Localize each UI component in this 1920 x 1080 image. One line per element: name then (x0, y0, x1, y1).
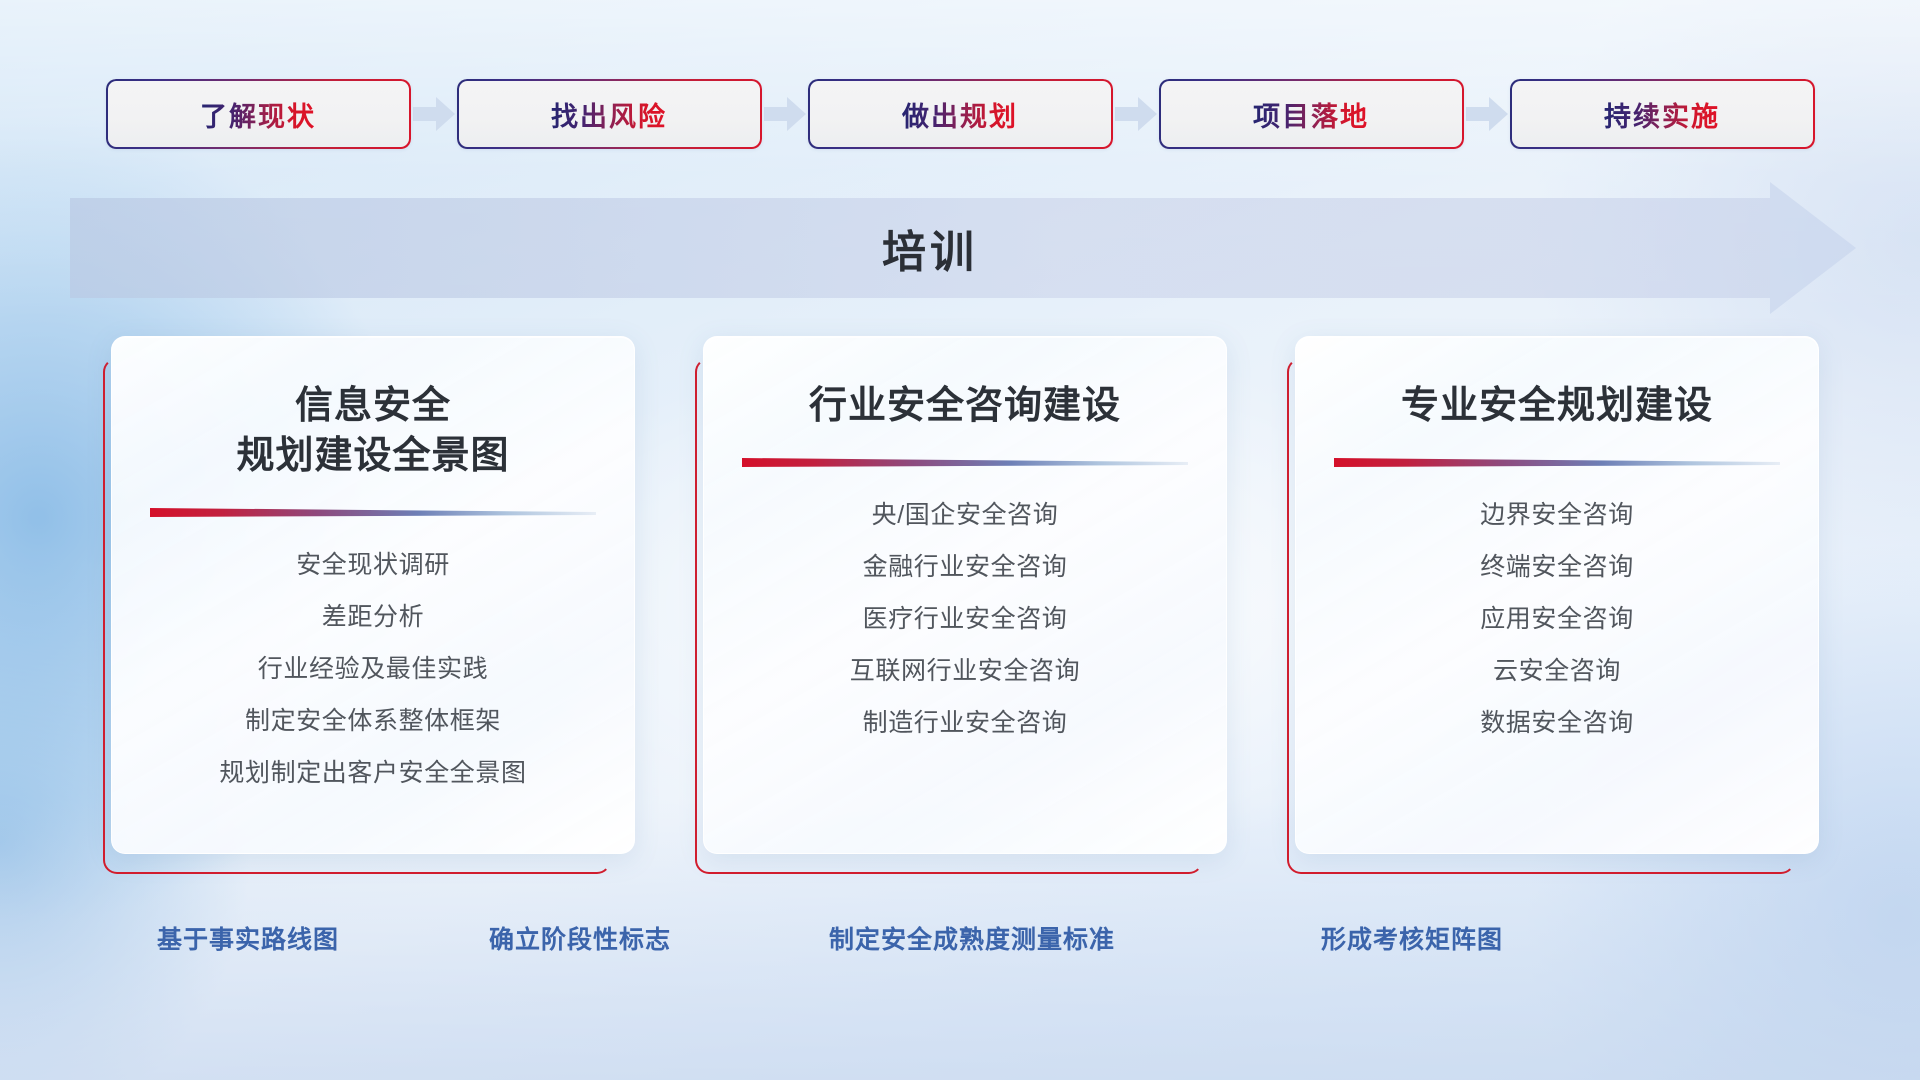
step-box-2[interactable]: 找出风险 (457, 79, 762, 149)
card-row: 信息安全 规划建设全景图 (0, 336, 1920, 874)
step-box-5[interactable]: 持续实施 (1510, 79, 1815, 149)
arrow-right-icon-4 (1464, 91, 1510, 137)
card-divider-3 (1334, 457, 1780, 468)
card-list-3: 边界安全咨询 终端安全咨询 应用安全咨询 云安全咨询 数据安全咨询 (1296, 494, 1818, 745)
step-label-4: 项目落地 (1253, 95, 1369, 134)
card-list-1: 安全现状调研 差距分析 行业经验及最佳实践 制定安全体系整体框架 规划制定出客户… (112, 544, 634, 795)
card-list-2: 央/国企安全咨询 金融行业安全咨询 医疗行业安全咨询 互联网行业安全咨询 制造行… (704, 494, 1226, 745)
training-banner: 培训 (70, 198, 1850, 298)
list-item: 制定安全体系整体框架 (245, 700, 501, 743)
card-professional-security-planning[interactable]: 专业安全规划建设 (1295, 336, 1819, 854)
card-title-2: 行业安全咨询建设 (809, 381, 1121, 431)
list-item: 规划制定出客户安全全景图 (219, 752, 526, 795)
step-label-2: 找出风险 (551, 95, 667, 134)
bottom-label-3: 制定安全成熟度测量标准 (829, 920, 1115, 956)
arrow-right-icon-3 (1113, 91, 1159, 137)
step-box-1[interactable]: 了解现状 (106, 79, 411, 149)
list-item: 医疗行业安全咨询 (863, 598, 1068, 641)
card-divider-2 (742, 457, 1188, 468)
list-item: 数据安全咨询 (1480, 702, 1634, 745)
step-label-3: 做出规划 (902, 95, 1018, 134)
card-title-1: 信息安全 规划建设全景图 (236, 381, 509, 481)
card-divider-1 (150, 507, 596, 518)
step-box-4[interactable]: 项目落地 (1159, 79, 1464, 149)
step-box-3[interactable]: 做出规划 (808, 79, 1113, 149)
process-step-row: 了解现状 找出风险 做出规划 项目落地 持续实施 (0, 79, 1920, 149)
bottom-label-4: 形成考核矩阵图 (1321, 920, 1503, 956)
list-item: 互联网行业安全咨询 (850, 650, 1080, 693)
card-industry-security-consulting[interactable]: 行业安全咨询建设 (703, 336, 1227, 854)
arrow-right-icon-2 (762, 91, 808, 137)
arrow-right-icon-1 (411, 91, 457, 137)
card-title-3: 专业安全规划建设 (1401, 381, 1713, 431)
list-item: 安全现状调研 (296, 544, 450, 587)
list-item: 应用安全咨询 (1480, 598, 1634, 641)
list-item: 终端安全咨询 (1480, 546, 1634, 589)
training-banner-title: 培训 (70, 198, 1850, 298)
list-item: 金融行业安全咨询 (863, 546, 1068, 589)
list-item: 边界安全咨询 (1480, 494, 1634, 537)
bottom-label-1: 基于事实路线图 (157, 920, 339, 956)
card-information-security-panorama[interactable]: 信息安全 规划建设全景图 (111, 336, 635, 854)
list-item: 差距分析 (322, 596, 424, 639)
list-item: 制造行业安全咨询 (863, 702, 1068, 745)
list-item: 行业经验及最佳实践 (258, 648, 488, 691)
card-wrap-3: 专业安全规划建设 (1287, 336, 1817, 874)
list-item: 央/国企安全咨询 (872, 494, 1059, 537)
bottom-label-2: 确立阶段性标志 (489, 920, 671, 956)
card-wrap-1: 信息安全 规划建设全景图 (103, 336, 633, 874)
list-item: 云安全咨询 (1493, 650, 1621, 693)
bottom-label-row: 基于事实路线图 确立阶段性标志 制定安全成熟度测量标准 形成考核矩阵图 (0, 920, 1920, 968)
step-label-1: 了解现状 (200, 95, 316, 134)
card-wrap-2: 行业安全咨询建设 (695, 336, 1225, 874)
step-label-5: 持续实施 (1604, 95, 1720, 134)
